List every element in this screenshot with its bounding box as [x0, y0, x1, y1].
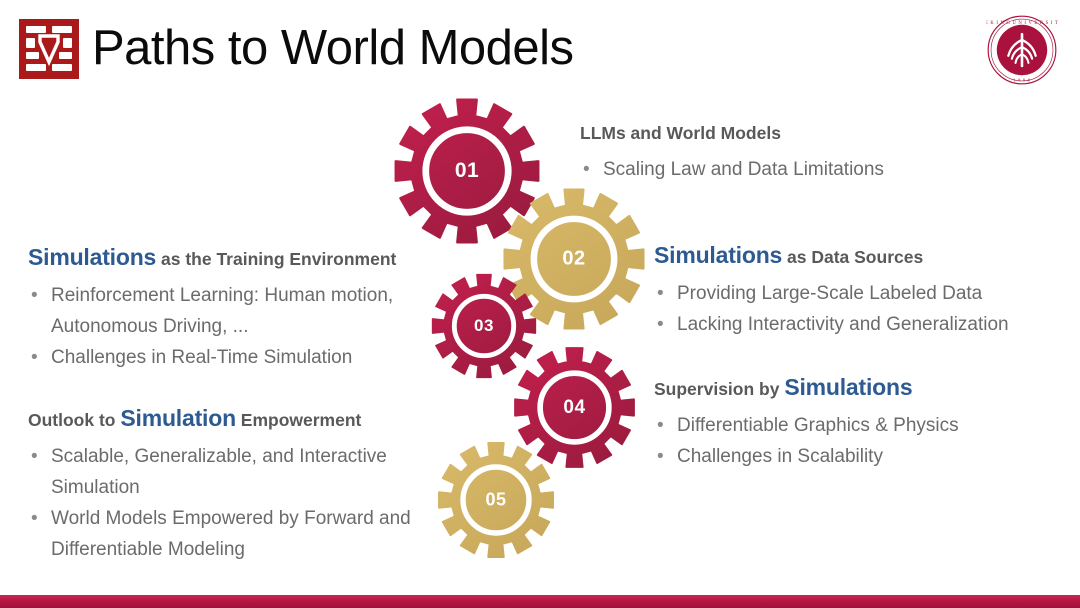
bullet-list: •Reinforcement Learning: Human motion, A… — [28, 280, 498, 373]
bullet-list: •Providing Large-Scale Labeled Data •Lac… — [654, 278, 1009, 340]
list-item-label: Challenges in Scalability — [677, 446, 883, 467]
block-outlook-to-simulation-empowerment: Outlook to Simulation Empowerment •Scala… — [28, 405, 458, 565]
list-item-label: Scalable, Generalizable, and Interactive… — [51, 446, 387, 498]
heading-text-pre: Supervision by — [654, 379, 784, 399]
list-item-label: World Models Empowered by Forward and Di… — [51, 508, 411, 560]
heading-text-post: as the Training Environment — [156, 249, 396, 269]
list-item: •Providing Large-Scale Labeled Data — [654, 278, 1009, 309]
bullet-list: •Scaling Law and Data Limitations — [580, 154, 884, 185]
block-simulations-as-training-environment: Simulations as the Training Environment … — [28, 244, 498, 373]
bullet-dot-icon: • — [31, 342, 38, 373]
bullet-dot-icon: • — [657, 441, 664, 472]
list-item: •Scalable, Generalizable, and Interactiv… — [28, 441, 451, 503]
bullet-list: •Differentiable Graphics & Physics •Chal… — [654, 410, 959, 472]
bottom-accent-bar — [0, 595, 1080, 608]
heading-highlight: Simulations — [654, 242, 782, 268]
list-item: •World Models Empowered by Forward and D… — [28, 503, 451, 565]
block-simulations-as-data-sources: Simulations as Data Sources •Providing L… — [654, 242, 1009, 340]
block-heading: Supervision by Simulations — [654, 374, 959, 401]
list-item: •Lacking Interactivity and Generalizatio… — [654, 309, 1009, 340]
bullet-dot-icon: • — [31, 441, 38, 472]
bullet-dot-icon: • — [657, 278, 664, 309]
list-item: •Scaling Law and Data Limitations — [580, 154, 884, 185]
bullet-dot-icon: • — [31, 280, 38, 311]
slide-canvas: Paths to World Models P E K I N G U N I … — [0, 0, 1080, 608]
bullet-list: •Scalable, Generalizable, and Interactiv… — [28, 441, 458, 565]
heading-text-post: Empowerment — [236, 410, 361, 430]
block-heading: Simulations as the Training Environment — [28, 244, 498, 271]
svg-text:1 8 9 8: 1 8 9 8 — [1014, 78, 1031, 83]
list-item-label: Differentiable Graphics & Physics — [677, 415, 959, 436]
block-llms-and-world-models: LLMs and World Models •Scaling Law and D… — [580, 118, 884, 185]
block-heading: Simulations as Data Sources — [654, 242, 1009, 269]
block-supervision-by-simulations: Supervision by Simulations •Differentiab… — [654, 374, 959, 472]
bullet-dot-icon: • — [583, 154, 590, 185]
list-item: •Challenges in Scalability — [654, 441, 959, 472]
list-item-label: Scaling Law and Data Limitations — [603, 159, 884, 180]
pku-square-logo-icon — [18, 18, 80, 80]
bullet-dot-icon: • — [657, 410, 664, 441]
page-title: Paths to World Models — [92, 10, 574, 86]
block-heading: Outlook to Simulation Empowerment — [28, 405, 458, 432]
heading-highlight: Simulation — [120, 405, 236, 431]
list-item: •Challenges in Real-Time Simulation — [28, 342, 498, 373]
list-item: •Differentiable Graphics & Physics — [654, 410, 959, 441]
peking-university-seal-icon: P E K I N G U N I V E R S I T Y 1 8 9 8 — [986, 14, 1058, 86]
block-heading: LLMs and World Models — [580, 118, 884, 145]
heading-text-pre: Outlook to — [28, 410, 120, 430]
svg-text:P E K I N G U N I V E R S I: P E K I N G U N I V E R S I T Y — [986, 21, 1058, 26]
heading-text-pre: LLMs and World Models — [580, 123, 781, 143]
list-item-label: Challenges in Real-Time Simulation — [51, 347, 352, 368]
bullet-dot-icon: • — [31, 503, 38, 534]
list-item: •Reinforcement Learning: Human motion, A… — [28, 280, 447, 342]
heading-highlight: Simulations — [784, 374, 912, 400]
heading-highlight: Simulations — [28, 244, 156, 270]
list-item-label: Lacking Interactivity and Generalization — [677, 314, 1009, 335]
list-item-label: Reinforcement Learning: Human motion, Au… — [51, 285, 393, 337]
list-item-label: Providing Large-Scale Labeled Data — [677, 283, 982, 304]
heading-text-post: as Data Sources — [782, 247, 923, 267]
bullet-dot-icon: • — [657, 309, 664, 340]
